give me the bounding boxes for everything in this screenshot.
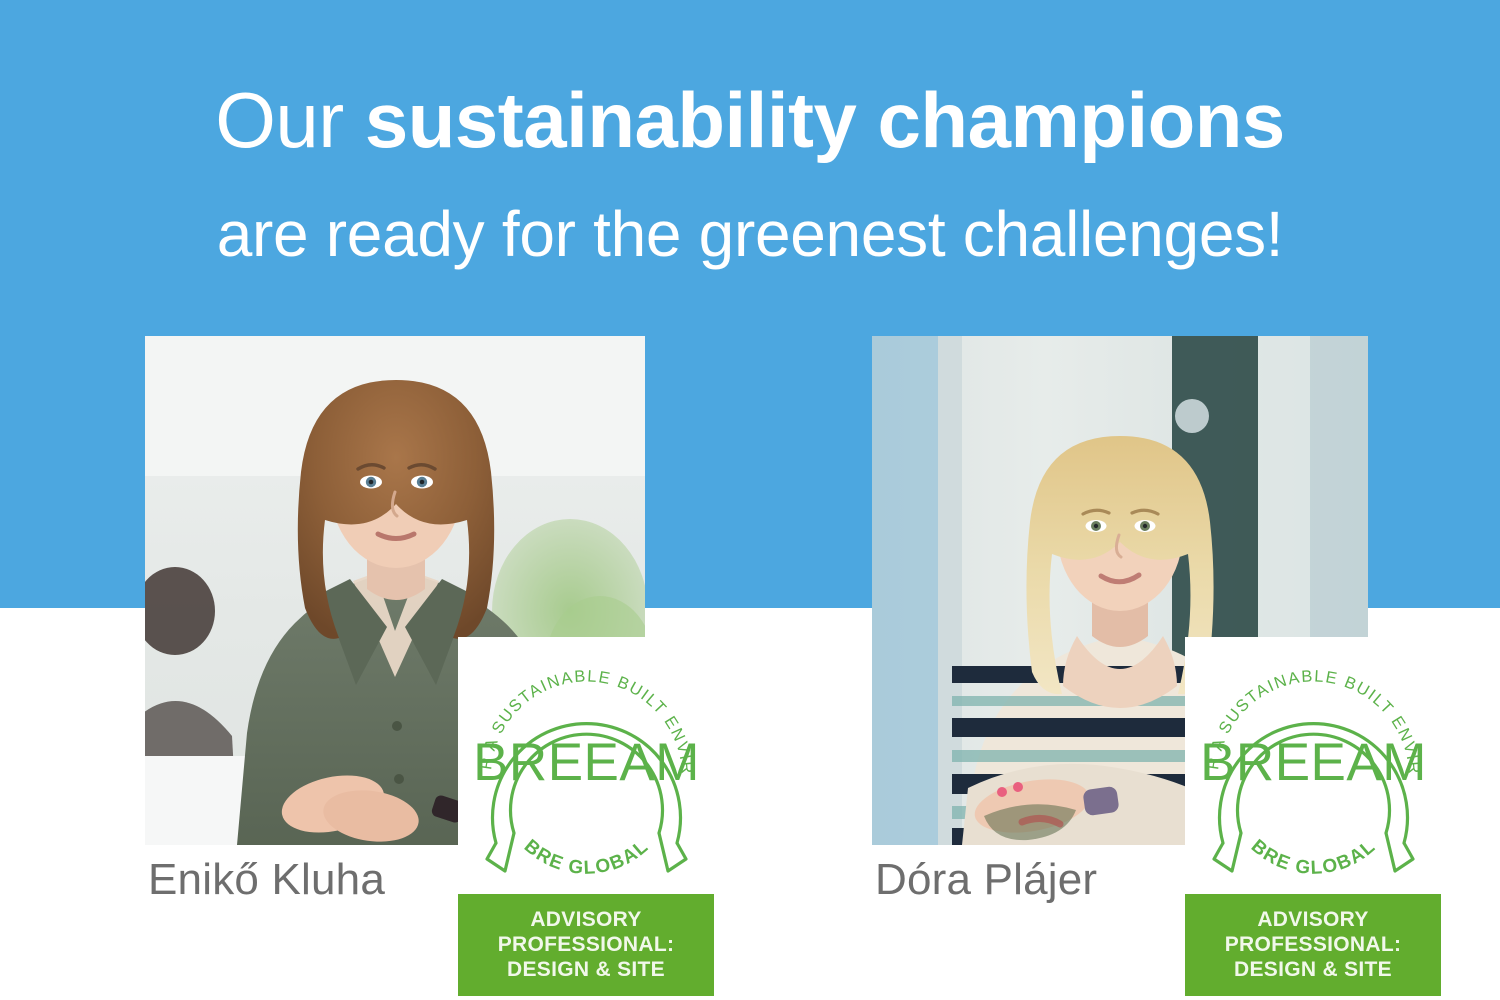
advisory-professional-badge: ADVISORY PROFESSIONAL: DESIGN & SITE (458, 894, 714, 996)
breeam-wordmark: BREEAM (1200, 733, 1427, 792)
person-name-dora-plajer: Dóra Plájer (875, 855, 1097, 905)
breeam-certification-dora-plajer: CODE FOR A SUSTAINABLE BUILT ENVIRONMENT… (1185, 637, 1442, 996)
headline-prefix: Our (215, 76, 365, 164)
breeam-logo-card: CODE FOR A SUSTAINABLE BUILT ENVIRONMENT… (458, 637, 715, 894)
headline-emphasis: sustainability champions (365, 76, 1285, 164)
badge-line-1: ADVISORY (1191, 907, 1435, 932)
subheadline: are ready for the greenest challenges! (0, 192, 1500, 276)
advisory-professional-badge: ADVISORY PROFESSIONAL: DESIGN & SITE (1185, 894, 1441, 996)
person-name-eniko-kluha: Enikő Kluha (148, 855, 385, 905)
breeam-certification-eniko-kluha: CODE FOR A SUSTAINABLE BUILT ENVIRONMENT… (458, 637, 715, 996)
badge-line-3: DESIGN & SITE (1191, 957, 1435, 982)
headline: Our sustainability champions (0, 72, 1500, 168)
breeam-arc-bottom-text: BRE GLOBAL (1247, 836, 1380, 879)
breeam-logo-card: CODE FOR A SUSTAINABLE BUILT ENVIRONMENT… (1185, 637, 1442, 894)
badge-line-3: DESIGN & SITE (464, 957, 708, 982)
svg-text:BRE GLOBAL: BRE GLOBAL (1247, 836, 1380, 879)
breeam-wordmark: BREEAM (473, 733, 700, 792)
svg-text:BRE GLOBAL: BRE GLOBAL (520, 836, 653, 879)
badge-line-2: PROFESSIONAL: (464, 932, 708, 957)
promo-graphic: Our sustainability champions are ready f… (0, 0, 1500, 1000)
badge-line-2: PROFESSIONAL: (1191, 932, 1435, 957)
badge-line-1: ADVISORY (464, 907, 708, 932)
breeam-arc-bottom-text: BRE GLOBAL (520, 836, 653, 879)
